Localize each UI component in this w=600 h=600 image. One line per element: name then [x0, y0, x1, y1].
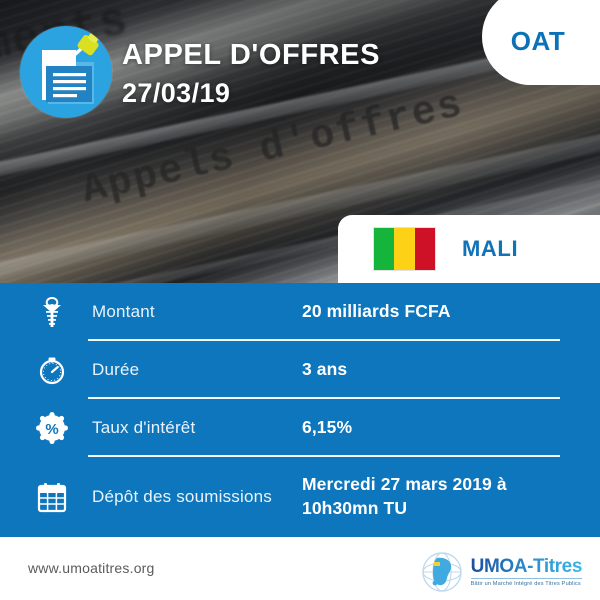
instrument-type-badge: OAT: [482, 0, 600, 85]
info-label: Taux d'intérêt: [74, 418, 302, 438]
document-pushpin-icon: [20, 26, 112, 118]
page-date: 27/03/19: [122, 80, 230, 107]
instrument-type-label: OAT: [511, 26, 565, 57]
info-value: Mercredi 27 mars 2019 à 10h30mn TU: [302, 473, 552, 520]
country-name: MALI: [462, 236, 518, 262]
info-value: 20 milliards FCFA: [302, 300, 451, 324]
calendar-icon: [30, 481, 74, 513]
info-row-montant: Montant 20 milliards FCFA: [0, 283, 600, 341]
mali-flag-icon: [373, 227, 436, 271]
info-label: Dépôt des soumissions: [74, 487, 302, 507]
info-value: 3 ans: [302, 358, 347, 382]
info-row-duree: Durée 3 ans: [0, 341, 600, 399]
info-row-taux: % Taux d'intérêt 6,15%: [0, 399, 600, 457]
globe-africa-icon: [420, 550, 464, 594]
website-url[interactable]: www.umoatitres.org: [28, 560, 155, 576]
money-icon: [30, 295, 74, 329]
brand-name: UMOA-Titres: [471, 557, 582, 579]
country-card: MALI: [338, 215, 600, 283]
info-label: Durée: [74, 360, 302, 380]
brand-logo: UMOA-Titres Bâtir un Marché Intégré des …: [420, 550, 582, 594]
percent-icon: %: [30, 412, 74, 444]
info-row-depot: Dépôt des soumissions Mercredi 27 mars 2…: [0, 457, 600, 537]
poster: ments Appels d'offres APPEL D'OFFRES 27/…: [0, 0, 600, 600]
info-value: 6,15%: [302, 416, 352, 440]
svg-text:%: %: [45, 421, 58, 438]
info-label: Montant: [74, 302, 302, 322]
page-title: APPEL D'OFFRES: [122, 41, 380, 70]
info-panel: Montant 20 milliards FCFA Durée 3 ans: [0, 283, 600, 537]
stopwatch-icon: [30, 354, 74, 386]
brand-tagline: Bâtir un Marché Intégré des Titres Publi…: [471, 581, 582, 587]
